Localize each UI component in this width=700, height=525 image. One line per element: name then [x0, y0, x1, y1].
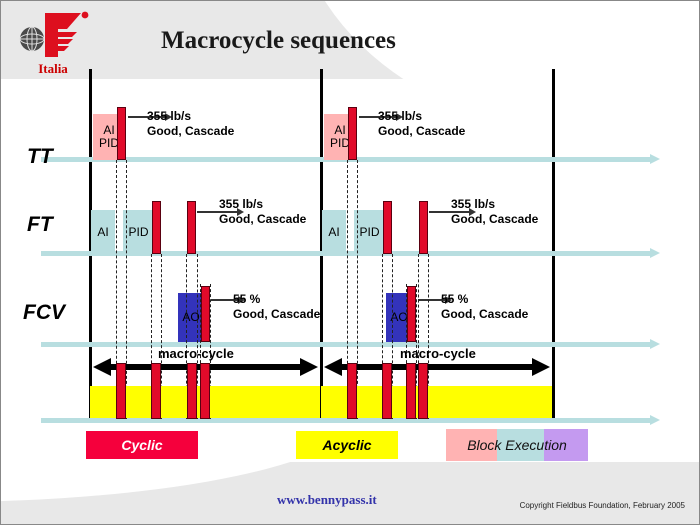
guide-line — [357, 160, 358, 419]
schedule-cyclic-bar — [406, 363, 416, 419]
ft-block-ai-right: AI — [322, 210, 346, 254]
ft-block-ai-left: AI — [91, 210, 115, 254]
ft-cyclic-bar-a-left — [152, 201, 161, 254]
footer-website-link[interactable]: www.bennypass.it — [277, 492, 377, 508]
macrocycle-label-left: macro-cycle — [158, 346, 234, 361]
legend-item-acyclic: Acyclic — [296, 431, 398, 459]
guide-line — [126, 160, 127, 419]
fcv-callout-value-right: 55 % — [441, 292, 528, 307]
ft-callout-value-right: 355 lb/s — [451, 197, 538, 212]
block-label-pid: PID — [128, 226, 148, 239]
tt-cyclic-bar-right — [348, 107, 357, 160]
fcv-callout-right: 55 % Good, Cascade — [441, 292, 528, 322]
schedule-cyclic-bar — [116, 363, 126, 419]
schedule-cyclic-bar — [418, 363, 428, 419]
schedule-cyclic-bar — [347, 363, 357, 419]
fcv-cyclic-bar-left — [201, 286, 210, 342]
ft-block-pid-right: PID — [354, 210, 385, 254]
ft-callout-right: 355 lb/s Good, Cascade — [451, 197, 538, 227]
footer-copyright: Copyright Fieldbus Foundation, February … — [520, 501, 685, 510]
row-label-tt: TT — [27, 145, 53, 169]
block-label-pid: PID — [99, 137, 119, 150]
ft-callout-status-left: Good, Cascade — [219, 212, 306, 227]
row-label-ft: FT — [27, 213, 53, 237]
tt-cyclic-bar-left — [117, 107, 126, 160]
timeline-schedule — [41, 418, 651, 423]
tt-callout-status-left: Good, Cascade — [147, 124, 234, 139]
fcv-callout-value-left: 55 % — [233, 292, 320, 307]
tt-callout-status-right: Good, Cascade — [378, 124, 465, 139]
tt-callout-right: 355 lb/s Good, Cascade — [378, 109, 465, 139]
ft-cyclic-bar-b-right — [419, 201, 428, 254]
ft-callout-status-right: Good, Cascade — [451, 212, 538, 227]
legend-label-cyclic: Cyclic — [121, 437, 162, 453]
legend-label-acyclic: Acyclic — [322, 437, 371, 453]
ft-callout-value-left: 355 lb/s — [219, 197, 306, 212]
tt-callout-value-right: 355 lb/s — [378, 109, 465, 124]
fcv-callout-status-left: Good, Cascade — [233, 307, 320, 322]
timeline-fcv — [41, 342, 651, 347]
fcv-cyclic-bar-right — [407, 286, 416, 342]
macrocycle-label-right: macro-cycle — [400, 346, 476, 361]
block-label-pid: PID — [359, 226, 379, 239]
block-label-ai: AI — [97, 226, 108, 239]
tt-callout-value-left: 355 lb/s — [147, 109, 234, 124]
schedule-cyclic-bar — [151, 363, 161, 419]
block-label-ai: AI — [328, 226, 339, 239]
slide-canvas: Italia Macrocycle sequences TT FT FCV AI… — [0, 0, 700, 525]
block-label-pid: PID — [330, 137, 350, 150]
row-label-fcv: FCV — [23, 301, 65, 325]
fcv-callout-status-right: Good, Cascade — [441, 307, 528, 322]
ft-cyclic-bar-b-left — [187, 201, 196, 254]
schedule-cyclic-bar — [200, 363, 210, 419]
schedule-cyclic-bar — [382, 363, 392, 419]
legend-item-block-execution: Block Execution — [446, 429, 588, 461]
schedule-cyclic-bar — [187, 363, 197, 419]
cycle-boundary-line-right — [552, 69, 555, 419]
ft-cyclic-bar-a-right — [383, 201, 392, 254]
tt-callout-left: 355 lb/s Good, Cascade — [147, 109, 234, 139]
ft-block-pid-left: PID — [123, 210, 154, 254]
ft-callout-left: 355 lb/s Good, Cascade — [219, 197, 306, 227]
legend-item-cyclic: Cyclic — [86, 431, 198, 459]
fcv-callout-left: 55 % Good, Cascade — [233, 292, 320, 322]
legend-label-block-execution: Block Execution — [446, 429, 588, 461]
